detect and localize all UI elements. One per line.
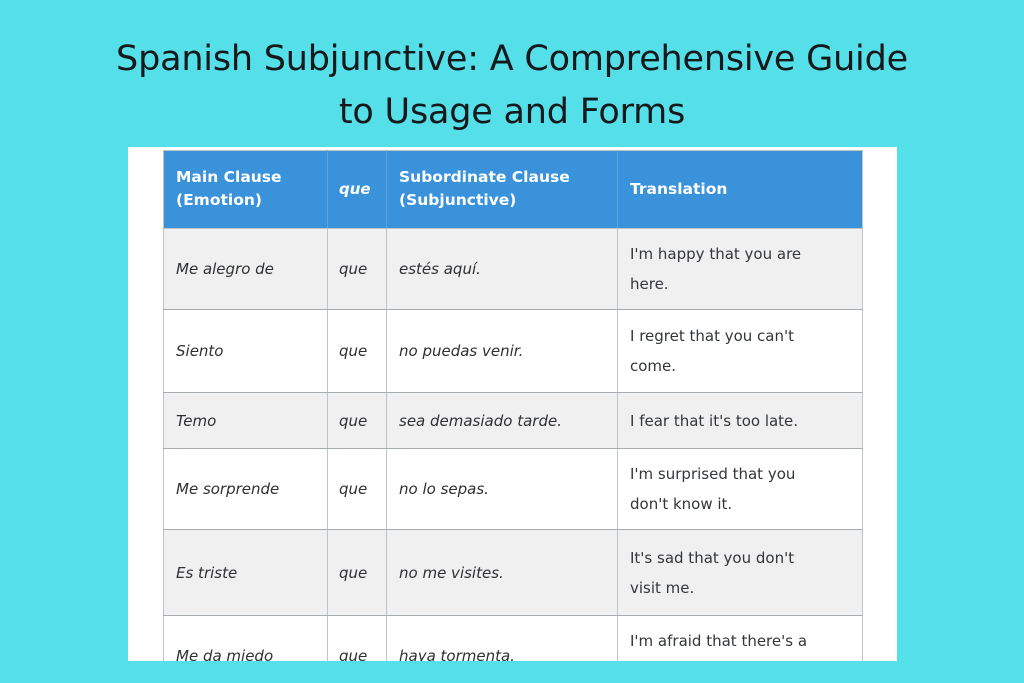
column-header-que: que xyxy=(328,151,387,229)
table-row: Me sorprende que no lo sepas. I'm surpri… xyxy=(164,449,863,530)
cell-subordinate: estés aquí. xyxy=(387,229,618,310)
cell-subordinate: no puedas venir. xyxy=(387,310,618,393)
cell-translation: It's sad that you don't visit me. xyxy=(618,530,863,616)
cell-subordinate: haya tormenta. xyxy=(387,616,618,662)
cell-subordinate: no lo sepas. xyxy=(387,449,618,530)
table-header-row: Main Clause (Emotion) que Subordinate Cl… xyxy=(164,151,863,229)
content-panel: Main Clause (Emotion) que Subordinate Cl… xyxy=(128,147,897,661)
cell-main-clause: Me da miedo xyxy=(164,616,328,662)
cell-main-clause: Me alegro de xyxy=(164,229,328,310)
cell-subordinate: no me visites. xyxy=(387,530,618,616)
table-row: Es triste que no me visites. It's sad th… xyxy=(164,530,863,616)
page-title: Spanish Subjunctive: A Comprehensive Gui… xyxy=(50,33,974,139)
column-header-main-clause: Main Clause (Emotion) xyxy=(164,151,328,229)
cell-que: que xyxy=(328,393,387,449)
cell-que: que xyxy=(328,530,387,616)
table-row: Siento que no puedas venir. I regret tha… xyxy=(164,310,863,393)
cell-que: que xyxy=(328,310,387,393)
table-row: Temo que sea demasiado tarde. I fear tha… xyxy=(164,393,863,449)
cell-translation: I'm happy that you are here. xyxy=(618,229,863,310)
cell-main-clause: Es triste xyxy=(164,530,328,616)
cell-translation: I fear that it's too late. xyxy=(618,393,863,449)
cell-main-clause: Temo xyxy=(164,393,328,449)
cell-subordinate: sea demasiado tarde. xyxy=(387,393,618,449)
cell-que: que xyxy=(328,229,387,310)
table-header: Main Clause (Emotion) que Subordinate Cl… xyxy=(164,151,863,229)
cell-que: que xyxy=(328,616,387,662)
cell-translation: I'm surprised that you don't know it. xyxy=(618,449,863,530)
cell-main-clause: Me sorprende xyxy=(164,449,328,530)
subjunctive-emotion-table: Main Clause (Emotion) que Subordinate Cl… xyxy=(163,150,863,661)
cell-translation: I'm afraid that there's a storm. xyxy=(618,616,863,662)
cell-main-clause: Siento xyxy=(164,310,328,393)
column-header-subordinate: Subordinate Clause (Subjunctive) xyxy=(387,151,618,229)
cell-translation: I regret that you can't come. xyxy=(618,310,863,393)
table-row: Me da miedo que haya tormenta. I'm afrai… xyxy=(164,616,863,662)
slide-canvas: Spanish Subjunctive: A Comprehensive Gui… xyxy=(0,0,1024,683)
table-row: Me alegro de que estés aquí. I'm happy t… xyxy=(164,229,863,310)
table-body: Me alegro de que estés aquí. I'm happy t… xyxy=(164,229,863,662)
table-scroll-area: Main Clause (Emotion) que Subordinate Cl… xyxy=(163,150,862,661)
column-header-translation: Translation xyxy=(618,151,863,229)
cell-que: que xyxy=(328,449,387,530)
